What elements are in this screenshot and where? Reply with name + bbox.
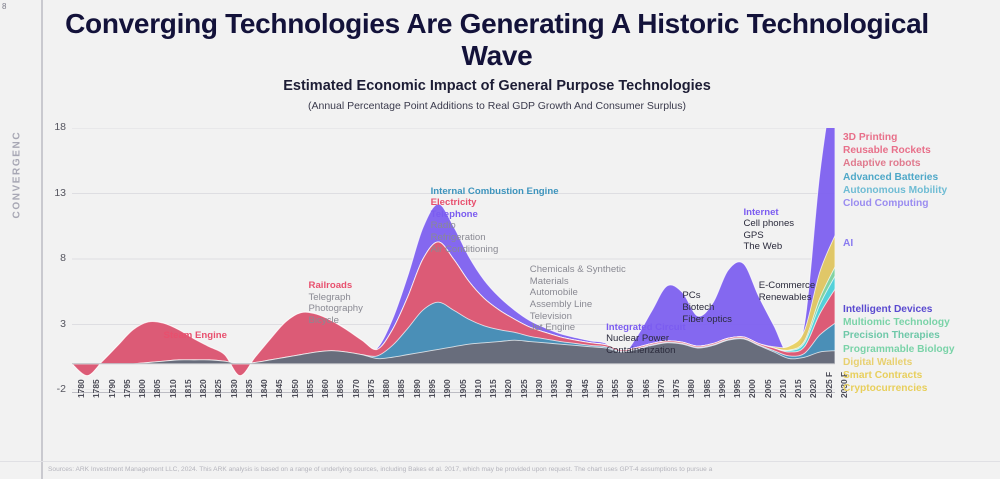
x-axis-tick: 2005 [763,379,773,398]
annotation-line: Biotech [682,302,732,314]
annotation-ecommerce: E-CommerceRenewables [759,280,816,303]
right-label: 3D Printing [843,131,947,144]
x-axis-tick: 1815 [183,379,193,398]
annotation-line: GPS [743,230,794,242]
annotation-integrated-circuit: Integrated CircuitNuclear PowerContainer… [606,322,685,357]
annotation-electricity-ice: Internal Combustion EngineElectricityTel… [431,186,559,256]
x-axis-tick: 2025 F [824,372,834,398]
annotation-line: Internal Combustion Engine [431,186,559,198]
right-label: Smart Contracts [843,369,955,382]
right-label: Programmable Biology [843,343,955,356]
x-axis-tick: 2000 [747,379,757,398]
annotation-line: Materials [530,276,626,288]
x-axis-tick: 1970 [656,379,666,398]
x-axis-tick: 1900 [442,379,452,398]
annotation-line: Photography [309,303,363,315]
y-axis-tick: -2 [44,383,66,395]
x-axis-tick: 1985 [702,379,712,398]
x-axis-tick: 1895 [427,379,437,398]
x-axis-tick: 1785 [91,379,101,398]
annotation-line: Electricity [431,197,559,209]
y-axis-tick: 8 [44,252,66,264]
y-axis-tick: 18 [44,121,66,133]
x-axis-tick: 1995 [732,379,742,398]
annotation-internet: InternetCell phonesGPSThe Web [743,207,794,253]
chart-title: Estimated Economic Impact of General Pur… [52,78,942,94]
annotation-line: Assembly Line [530,299,626,311]
x-axis-tick: 1915 [488,379,498,398]
annotation-line: Railroads [309,280,363,292]
x-axis-tick: 1885 [396,379,406,398]
source-footnote: Sources: ARK Investment Management LLC, … [48,466,988,473]
x-axis-tick: 1945 [580,379,590,398]
y-axis-tick: 3 [44,318,66,330]
x-axis-tick: 1795 [122,379,132,398]
gutter-rule [41,0,43,479]
right-label: Precision Therapies [843,329,955,342]
x-axis-tick: 1935 [549,379,559,398]
x-axis-tick: 1940 [564,379,574,398]
x-axis-tick: 1955 [610,379,620,398]
right-label-ai: AI [843,237,853,250]
annotation-steam-engine: Steam Engine [164,330,227,342]
x-axis-tick: 1870 [351,379,361,398]
x-axis-tick: 1975 [671,379,681,398]
right-label: Cryptocurrencies [843,382,955,395]
x-axis-tick: 1960 [625,379,635,398]
annotation-line: Telegraph [309,292,363,304]
right-label: Advanced Batteries [843,171,947,184]
x-axis-tick: 1860 [320,379,330,398]
x-axis-tick: 2020 [808,379,818,398]
x-axis-tick: 1950 [595,379,605,398]
annotation-line: Integrated Circuit [606,322,685,334]
chart-svg [72,128,835,390]
annotation-line: Television [530,311,626,323]
right-label: Intelligent Devices [843,303,955,316]
x-axis-tick: 1990 [717,379,727,398]
x-axis-tick: 1825 [213,379,223,398]
right-labels-bottom: Intelligent DevicesMultiomic TechnologyP… [843,303,955,395]
x-axis-tick: 1845 [274,379,284,398]
right-labels-top: 3D PrintingReusable RocketsAdaptive robo… [843,131,947,210]
footer-divider [0,461,1000,462]
right-label: Autonomous Mobility [843,184,947,197]
left-gutter: 8 CONVERGENCE [0,0,42,479]
slide-root: 8 CONVERGENCE Converging Technologies Ar… [0,0,1000,479]
annotation-line: Renewables [759,292,816,304]
x-axis-tick: 1930 [534,379,544,398]
annotation-line: Fiber optics [682,314,732,326]
x-axis-tick: 1910 [473,379,483,398]
x-axis-tick: 1965 [641,379,651,398]
annotation-line: Chemicals & Synthetic [530,264,626,276]
x-axis-tick: 1810 [168,379,178,398]
right-label: Cloud Computing [843,197,947,210]
x-axis-tick: 1875 [366,379,376,398]
x-axis-tick: 1780 [76,379,86,398]
right-label: Adaptive robots [843,157,947,170]
x-axis-labels: 1780178517901795180018051810181518201825… [72,396,835,458]
x-axis-tick: 1850 [290,379,300,398]
right-label: Digital Wallets [843,356,955,369]
x-axis-tick: 1880 [381,379,391,398]
annotation-line: E-Commerce [759,280,816,292]
right-label-ai: AI [843,237,853,250]
x-axis-tick: 1820 [198,379,208,398]
x-axis-tick: 2010 [778,379,788,398]
annotation-line: Refrigeration [431,232,559,244]
side-label: CONVERGENCE [12,133,23,219]
x-axis-tick: 1830 [229,379,239,398]
annotation-line: Radio [431,220,559,232]
page-number: 8 [2,2,6,11]
annotation-line: Containerization [606,345,685,357]
annotation-line: Internet [743,207,794,219]
x-axis-tick: 1840 [259,379,269,398]
x-axis-tick: 1835 [244,379,254,398]
annotation-line: PCs [682,290,732,302]
x-axis-tick: 1855 [305,379,315,398]
y-axis-tick: 13 [44,187,66,199]
annotation-line: Air Conditioning [431,244,559,256]
x-axis-tick: 1865 [335,379,345,398]
annotation-line: Telephone [431,209,559,221]
x-axis-tick: 1980 [686,379,696,398]
chart-plot-area [72,128,835,390]
annotation-line: Cell phones [743,218,794,230]
annotation-line: Steam Engine [164,330,227,342]
x-axis-tick: 1790 [107,379,117,398]
x-axis-tick: 1805 [152,379,162,398]
x-axis-tick: 1890 [412,379,422,398]
annotation-line: Automobile [530,287,626,299]
right-label: Multiomic Technology [843,316,955,329]
right-label: Reusable Rockets [843,144,947,157]
x-axis-tick: 2015 [793,379,803,398]
page-title: Converging Technologies Are Generating A… [52,8,942,72]
annotation-railroads: RailroadsTelegraphPhotographyBicycle [309,280,363,326]
chart-subtitle: (Annual Percentage Point Additions to Re… [52,100,942,112]
annotation-line: Bicycle [309,315,363,327]
x-axis-tick: 1800 [137,379,147,398]
annotation-line: The Web [743,241,794,253]
x-axis-tick: 1925 [519,379,529,398]
annotation-line: Nuclear Power [606,333,685,345]
x-axis-tick: 1920 [503,379,513,398]
annotation-pcs-biotech: PCsBiotechFiber optics [682,290,732,325]
x-axis-tick: 1905 [458,379,468,398]
